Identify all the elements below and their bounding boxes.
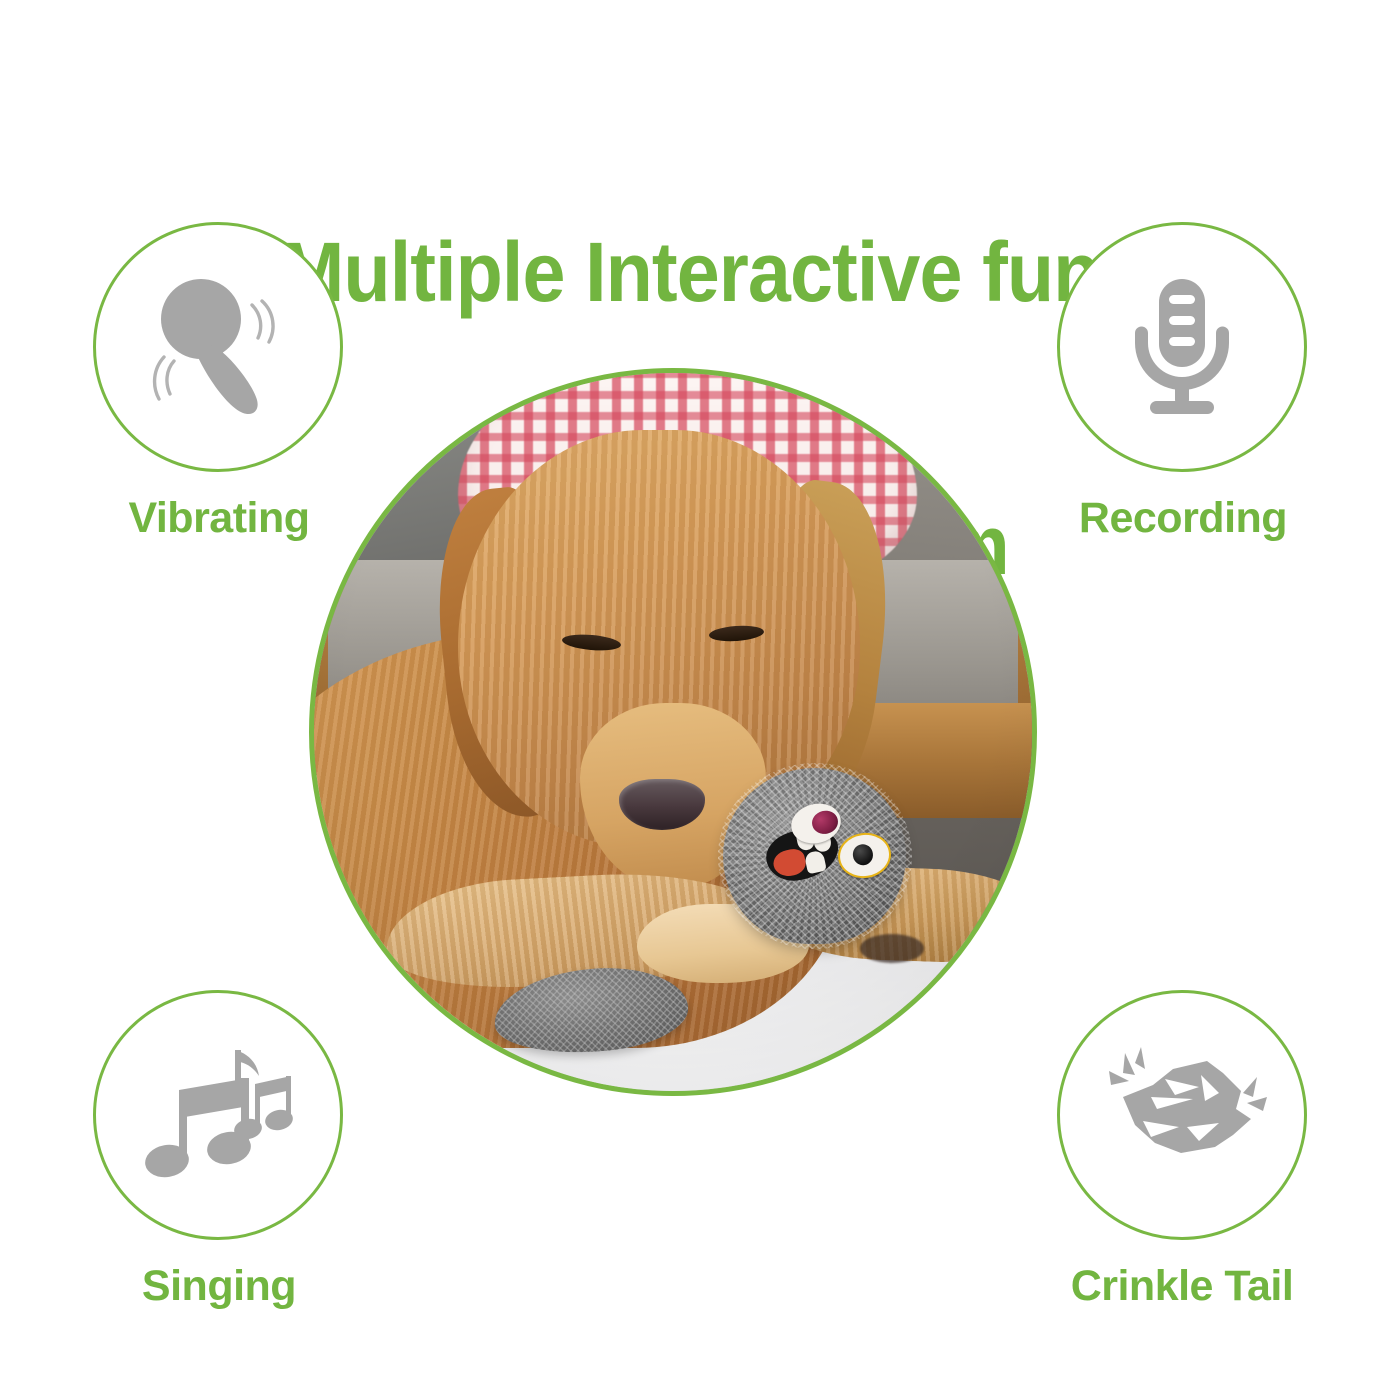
feature-vibrating[interactable]: Vibrating: [93, 222, 345, 543]
feature-vibrating-label: Vibrating: [93, 494, 345, 543]
feature-recording-label: Recording: [1057, 494, 1309, 543]
monster-toy-tooth: [804, 850, 827, 874]
feature-recording[interactable]: Recording: [1057, 222, 1309, 543]
product-photo: [309, 368, 1037, 1096]
feature-recording-circle: [1057, 222, 1307, 472]
feature-crinkle-tail[interactable]: Crinkle Tail: [1057, 990, 1309, 1311]
feature-singing[interactable]: Singing: [93, 990, 345, 1311]
feature-crinkle-tail-label: Crinkle Tail: [1055, 1262, 1309, 1311]
feature-vibrating-circle: [93, 222, 343, 472]
feature-crinkle-tail-circle: [1057, 990, 1307, 1240]
feature-singing-circle: [93, 990, 343, 1240]
crinkle-paper-icon: [1060, 993, 1304, 1237]
vibrating-ball-icon: [96, 225, 340, 469]
infographic-canvas: Multiple Interactive fun, Relieve Boredo…: [0, 0, 1400, 1400]
microphone-icon: [1060, 225, 1304, 469]
monster-toy-tongue: [771, 846, 808, 878]
music-notes-icon: [96, 993, 340, 1237]
photo-scene: [314, 373, 1032, 1091]
feature-singing-label: Singing: [93, 1262, 345, 1311]
